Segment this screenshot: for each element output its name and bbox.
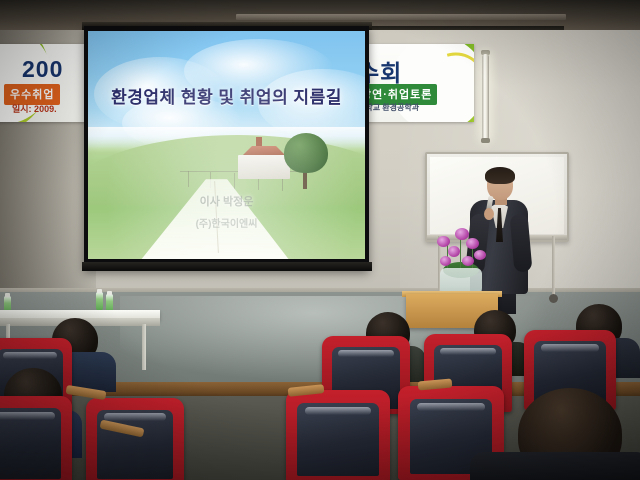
fence-post — [188, 171, 189, 187]
seat-highlight — [305, 407, 372, 415]
banner-year-text: 200 — [22, 56, 63, 83]
projected-slide: 환경업체 현황 및 취업의 지름길 이사 박정운 (주)한국이엔씨 — [88, 31, 365, 259]
seat-highlight — [3, 352, 57, 359]
event-banner-right: 수회 강연·취업토론 대학교 환경공학과 — [352, 44, 474, 122]
seat-highlight — [541, 344, 600, 351]
orchid-bloom — [440, 256, 451, 266]
audience-seat — [86, 398, 184, 480]
banner-date-text: 일시: 2009. — [12, 102, 57, 115]
bottle-cap — [5, 293, 10, 297]
orchid-bloom — [448, 246, 460, 257]
tube-light-cap-bottom — [481, 138, 490, 143]
whiteboard-leg-right — [552, 236, 555, 298]
orchid-bloom — [462, 256, 474, 266]
audience-seat — [0, 396, 72, 480]
beverage-bottle — [96, 292, 103, 311]
seat-highlight — [104, 413, 167, 421]
orchid-bloom — [455, 228, 469, 240]
presenter-hand — [484, 208, 494, 220]
slide-company-text: (주)한국이엔씨 — [88, 215, 365, 230]
presenter-hair — [485, 167, 515, 184]
seat-highlight — [440, 348, 496, 355]
tree-canopy — [284, 133, 328, 173]
slide-title-text: 환경업체 현황 및 취업의 지름길 — [88, 83, 365, 108]
foreground-audience-shoulders — [470, 452, 640, 480]
screen-bottom-bar — [82, 262, 372, 271]
orchid-bloom — [474, 250, 486, 260]
bottle-cap — [107, 291, 112, 295]
audience-seat — [286, 390, 390, 480]
seat-highlight — [338, 350, 394, 357]
seat-highlight — [0, 412, 55, 420]
table-leg — [142, 324, 146, 370]
bottle-cap — [97, 289, 102, 293]
whiteboard-caster-right — [549, 294, 558, 303]
slide-speaker-text: 이사 박정운 — [88, 193, 365, 209]
ceiling-rail — [236, 14, 566, 20]
orchid-bloom — [466, 238, 479, 249]
house-body — [238, 155, 290, 179]
seminar-photo: 200 우수취업 일시: 2009. 수회 강연·취업토론 대학교 환경공학과 — [0, 0, 640, 480]
orchid-bloom — [437, 236, 450, 247]
seat-highlight — [417, 403, 485, 411]
fence-post — [234, 173, 235, 189]
wall-fluorescent-tube-icon — [482, 54, 489, 140]
